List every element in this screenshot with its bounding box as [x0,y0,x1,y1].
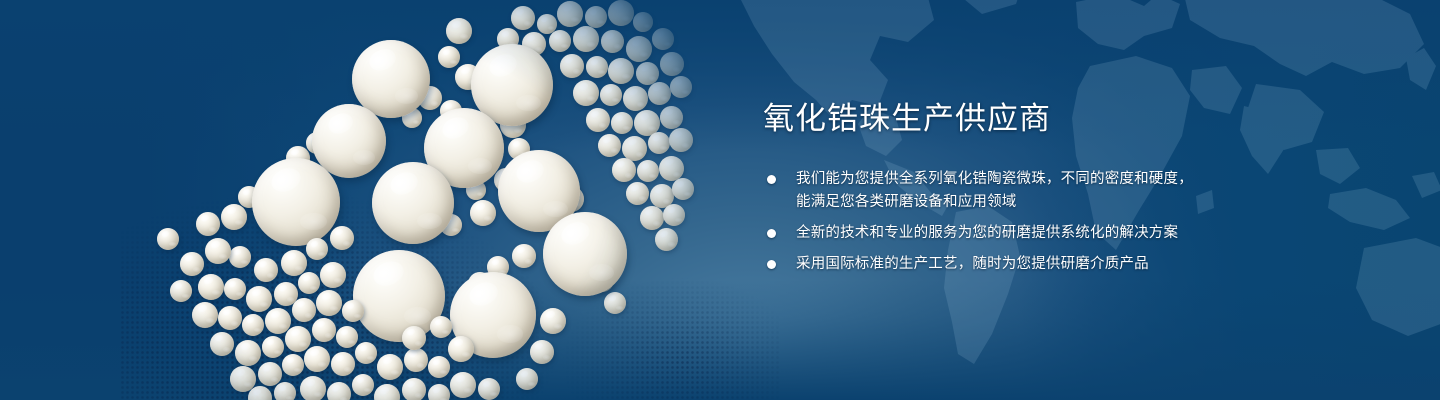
bead [586,56,608,78]
bead [438,46,460,68]
bead [549,30,571,52]
bead [670,76,692,98]
bead [218,306,242,330]
bead [274,382,296,400]
bead [655,228,678,251]
bead [285,326,311,352]
bead [478,378,500,400]
zirconia-beads-photo [0,0,760,400]
bead [470,200,496,226]
bead [374,384,400,400]
bead [229,246,251,268]
bead [560,54,584,78]
bead [652,28,674,50]
bead [586,108,610,132]
bead [258,362,282,386]
bead [292,298,316,322]
bead [221,204,247,230]
bead-large [543,212,627,296]
bead [511,6,535,30]
bead [585,6,607,28]
bead [637,160,659,182]
bead [660,106,683,129]
bead [669,128,693,152]
bead [246,286,272,312]
bead [282,354,304,376]
bead [224,278,246,300]
list-item-line-1: 全新的技术和专业的服务为您的研磨提供系统化的解决方案 [796,222,1233,245]
bead [248,386,272,400]
bead [612,158,636,182]
list-item: 全新的技术和专业的服务为您的研磨提供系统化的解决方案 [767,222,1233,245]
bead [402,378,426,400]
list-item-line-1: 我们能为您提供全系列氧化锆陶瓷微珠，不同的密度和硬度， [796,168,1233,191]
bead [573,26,599,52]
feature-list: 我们能为您提供全系列氧化锆陶瓷微珠，不同的密度和硬度， 能满足您各类研磨设备和应… [767,168,1233,276]
bead [300,376,326,400]
bead [306,238,328,260]
bead [205,238,231,264]
bead [352,374,374,396]
page-title: 氧化锆珠生产供应商 [763,100,1233,138]
bead [608,0,634,26]
bead [430,316,452,338]
bead [254,258,278,282]
bead [404,348,428,372]
bead [633,12,653,32]
dot-bullet-icon [767,229,776,238]
bead [446,18,472,44]
bead [262,336,284,358]
banner-text-column: 氧化锆珠生产供应商 我们能为您提供全系列氧化锆陶瓷微珠，不同的密度和硬度， 能满… [763,100,1233,276]
bead [448,336,474,362]
bead [210,332,234,356]
bead [196,212,220,236]
dot-bullet-icon [767,260,776,269]
list-item-line-2: 能满足您各类研磨设备和应用领域 [796,191,1233,214]
bead [428,356,450,378]
bead [330,226,354,250]
bead [298,272,320,294]
bead [530,340,554,364]
bead [336,326,358,348]
bead [557,1,583,27]
dot-bullet-icon [767,175,776,184]
list-item: 采用国际标准的生产工艺，随时为您提供研磨介质产品 [767,253,1233,276]
bead [377,354,403,380]
bead [450,372,476,398]
bead [648,132,670,154]
bead [608,58,634,84]
bead [312,318,336,342]
bead [648,82,671,105]
bead-large [372,162,454,244]
bead [600,84,622,106]
bead [512,244,536,268]
bead [516,368,538,390]
bead [598,134,621,157]
bead [402,326,426,350]
bead [626,36,652,62]
bead [281,250,307,276]
bead [320,262,346,288]
bead [355,342,377,364]
bead-large [252,158,340,246]
bead [672,178,694,200]
bead [235,340,261,366]
bead [660,52,684,76]
bead [192,302,218,328]
bead [327,382,351,400]
bead [316,290,342,316]
bead [170,280,192,302]
bead [198,274,224,300]
bead [304,346,330,372]
bead [611,112,633,134]
bead [540,308,566,334]
bead [626,182,649,205]
list-item: 我们能为您提供全系列氧化锆陶瓷微珠，不同的密度和硬度， 能满足您各类研磨设备和应… [767,168,1233,214]
bead [604,292,626,314]
bead [573,80,599,106]
bead [428,384,450,400]
bead [663,204,685,226]
bead [640,206,664,230]
bead [342,300,364,322]
bead [242,314,264,336]
bead [157,228,179,250]
bead [331,352,355,376]
hero-banner: 氧化锆珠生产供应商 我们能为您提供全系列氧化锆陶瓷微珠，不同的密度和硬度， 能满… [0,0,1440,400]
bead [623,86,648,111]
bead [180,252,204,276]
list-item-line-1: 采用国际标准的生产工艺，随时为您提供研磨介质产品 [796,253,1233,276]
bead [601,30,624,53]
